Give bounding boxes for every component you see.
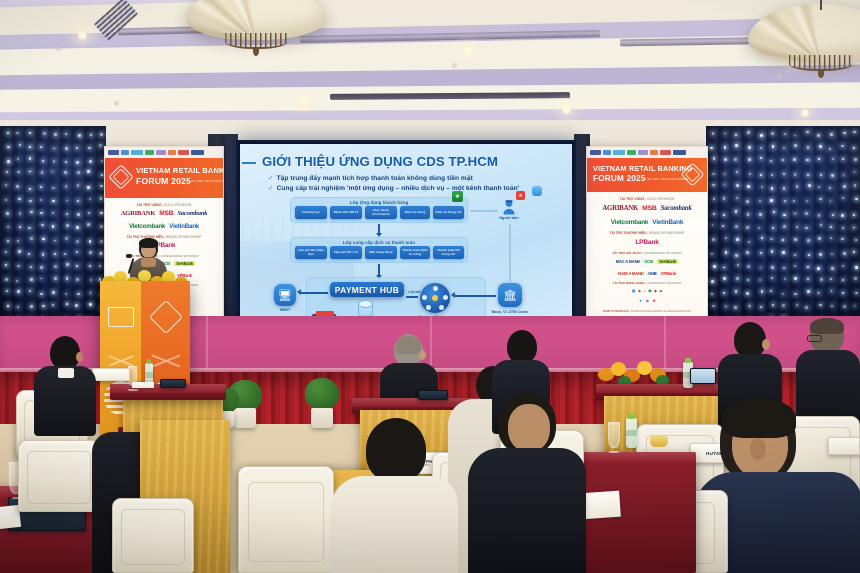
fairy-light [735,144,738,147]
drinking-glass [608,422,620,448]
layer2-chip-1: Viện phí DV Y tế [330,246,362,259]
fairy-light [783,214,786,217]
gold-sponsor-row-2: Vietcombank VietinBank [587,219,707,226]
fairy-light [100,212,103,215]
fairy-light [724,184,726,186]
fairy-lights-left [0,126,106,338]
small-bowl [650,436,668,447]
fairy-light [40,293,43,296]
fairy-light [76,226,79,229]
logo-seabank: SeABank [174,261,195,266]
fairy-light [737,264,739,266]
fairy-light [843,185,846,188]
head [734,322,766,358]
gateway-node-dot [433,286,438,291]
banner-subtitle: 17. 04. 2025 | REX HOTEL SAIGON [643,177,688,181]
banner-header-left: VIETNAM RETAIL BANKING FORUM 2025 17. 04… [105,158,223,198]
node-left-label: HĐĐT [272,308,298,313]
fairy-light [830,226,832,228]
layer2-chip-3: Thanh toán Dịch vụ Công [400,246,430,259]
fairy-light [28,227,30,229]
logo-sacombank: Sacombank [661,205,692,212]
fairy-light [6,171,8,173]
logo-ocb: OCB [644,259,653,264]
fairy-light [7,305,9,307]
fairy-light [28,253,30,255]
logo-msb: MSB [642,205,657,212]
fairy-light [807,266,809,268]
fairy-light [841,238,843,240]
fairy-light [75,304,78,307]
fairy-light [40,212,42,214]
ear [76,352,83,362]
conference-hall-photo: VIETNAM RETAIL BANKING FORUM 2025 17. 04… [0,0,860,573]
fairy-light [794,173,797,176]
conference-sponsor-row: BAC A BANK OCB SeABank [587,259,707,264]
logo-shb: SHB [648,271,657,276]
fairy-light [782,304,784,306]
fairy-light [40,278,42,280]
fairy-light [52,304,54,306]
logo-agribank: AGRIBANK [602,205,638,212]
layer2-chip-4: Thanh toán DV Công ích [433,246,464,259]
fairy-light [772,304,775,307]
bank-icon: 🏛 [498,283,522,307]
fairy-light [712,132,715,135]
gateway-center-dot [432,295,438,301]
fairy-light [723,197,726,200]
tier-en: PARTICIPATING BANKS & ORGANISATIONS [631,309,690,313]
fairy-light [735,134,737,136]
fairy-light [65,293,67,295]
fairy-light [746,292,749,295]
fairy-light [819,253,822,256]
fairy-light [76,251,78,253]
fairy-light [796,185,799,188]
fairy-light [773,211,775,213]
fairy-light [711,293,713,295]
fairy-light [759,279,761,281]
diagram-arrow [454,295,496,297]
fairy-light [736,238,739,241]
fairy-light [734,158,737,161]
layer1-chip-2: Chợ, Shop eCommerce [365,206,397,219]
head [50,336,80,370]
database-icon [358,300,373,317]
fairy-light [807,174,809,176]
fairy-light [794,254,796,256]
fairy-light [66,303,68,305]
ceiling-downlight [114,101,119,106]
fairy-light [17,158,19,160]
fairy-light [817,267,820,270]
fairy-light [748,241,750,243]
lamp-finial [253,47,259,56]
fairy-light [805,212,808,215]
fairy-light [87,223,90,226]
fairy-light [723,267,725,269]
placard-name [110,373,111,377]
audience-chair [18,440,100,512]
fairy-light [90,134,92,136]
bank-label: Bank, Ví, ATM Cards [489,310,531,315]
fairy-light [760,157,762,159]
logo-vietcombank: Vietcombank [611,219,648,226]
fairy-light [805,227,808,230]
fairy-light [30,237,33,240]
slide-bullets: ✓Tập trung đẩy mạnh tích hợp thanh toán … [268,174,519,194]
fairy-light [17,171,19,173]
fairy-light [16,280,18,282]
fairy-light [735,210,738,213]
fairy-light [41,224,43,226]
fairy-light [770,238,772,240]
fairy-light [853,131,855,133]
fairy-light [817,134,820,137]
podium-x-motif [151,347,181,373]
fairy-light [77,293,79,295]
fairy-light [842,197,844,199]
partner-row-1: ▤◈ ◐⬢ ◆▰ [587,289,707,293]
fairy-light [17,306,19,308]
fairy-light [100,197,102,199]
fairy-light [760,147,762,149]
logo-seabank: SeABank [657,259,678,264]
fairy-light [42,238,45,241]
layer1-chip-4: Dịch vụ Công ích [433,206,464,219]
fairy-light [842,279,844,281]
fairy-light [759,200,761,202]
fairy-light [52,200,54,202]
fairy-light [65,185,67,187]
fairy-light [41,171,44,174]
brand-sponsor-row: LPBank [587,239,707,246]
payment-hub-box: PAYMENT HUB [330,282,404,297]
fairy-light [771,277,773,279]
fairy-light [5,278,8,281]
fairy-light [782,239,784,241]
tier-en: BRAND SPONSORSHIP [166,235,201,239]
fairy-light [725,306,727,308]
speaker-hair [139,238,158,248]
speaker-neck [141,258,156,267]
tier-vi: TÀI TRỢ HỘI THẢO [612,251,641,255]
audience-chair [238,466,334,573]
shirt-collar [58,368,74,378]
fairy-light [7,132,9,134]
fairy-light [783,147,785,149]
fairy-light [794,135,796,137]
fairy-light [854,305,856,307]
fairy-light [18,250,21,253]
hair [810,318,844,334]
tablet-device [418,390,448,400]
tier-vi: TÀI TRỢ ĐỒNG HÀNH [613,281,645,285]
fairy-light [29,171,31,173]
fan-pendant-lamp-left [186,0,326,40]
table-top [576,452,696,463]
fairy-light [853,251,855,253]
fairy-light [89,240,91,242]
fairy-light [89,265,91,267]
fairy-light [841,214,844,217]
presentation-screen: GIỚI THIỆU ỨNG DỤNG CDS TP.HCM ✓Tập trun… [236,140,576,335]
fairy-light [758,227,760,229]
tablet-device [160,379,186,388]
checkmark-icon: ✓ [268,185,274,192]
diagram-arrow [406,296,418,298]
layer2-chip-2: Bán hàng Shop [365,246,397,259]
fairy-light [761,237,763,239]
fairy-light [724,158,727,161]
fan-pendant-lamp-right [748,4,860,62]
layer2-chip-0: Học phí Dự Giáo dục [295,246,327,259]
fairy-light [854,277,857,280]
fairy-light [734,306,737,309]
fairy-light [64,253,66,255]
fairy-light [711,253,713,255]
ceiling-downlight [56,46,61,51]
fairy-light [713,213,715,215]
fairy-light [735,254,738,257]
diagram-arrowhead [451,292,455,298]
gateway-node-dot [422,295,427,300]
fairy-light [76,265,78,267]
logo-msb: MSB [159,210,173,217]
fairy-light [760,134,763,137]
fairy-light [747,185,750,188]
fairy-light [794,293,797,296]
fairy-light [855,198,857,200]
fairy-light [6,290,8,292]
layer-1-caption: Lớp Ứng dụng khách hàng [291,200,467,205]
fairy-light [29,290,31,292]
slide-bullet-2: ✓Cung cấp trải nghiệm 'một ứng dụng – nh… [268,184,519,194]
fairy-light [54,240,56,242]
fairy-light [829,187,831,189]
document-paper [132,382,154,388]
fairy-light [65,237,67,239]
fairy-light [820,278,823,281]
hair [396,336,421,354]
fairy-light [854,184,857,187]
app-badge-icon [532,186,542,196]
logo-vpbank: VPBank [661,271,676,276]
fairy-light [843,305,846,308]
fairy-light [101,174,103,176]
ceiling-downlight [560,105,573,114]
gateway-node-dot [439,305,444,310]
fairy-light [89,198,92,201]
fairy-light [794,265,796,267]
fairy-light [66,200,68,202]
fairy-light [89,251,92,254]
fairy-light [66,263,68,265]
fairy-light [99,265,101,267]
logo-vietinbank: VietinBank [652,219,683,226]
fairy-light [794,238,797,241]
layer1-chip-3: Dịch vụ Công [400,206,430,219]
fairy-light [711,280,714,283]
fairy-light [54,277,57,280]
fairy-light [66,224,69,227]
diagram-arrow-horizontal [470,210,498,212]
fairy-light [77,171,80,174]
fairy-light [54,133,57,136]
banner-logo-strip [105,147,223,158]
audience-chair [112,498,194,573]
banner-title-2: FORUM 2025 [593,175,646,184]
tier-vi: TÀI TRỢ THƯƠNG HIỆU [610,231,647,235]
fairy-light [100,240,103,243]
ceiling-downlight [799,109,811,117]
fairy-light [725,251,728,254]
fairy-light [853,214,856,217]
fairy-light [54,253,56,255]
tier-label-conference: TÀI TRỢ HỘI THẢO | CONFERENCE SPONSOR [587,251,707,255]
partner-row-2: ▼◉ ✚ [587,299,707,303]
fairy-light [29,146,31,148]
fairy-light [830,237,832,239]
fairy-light [747,213,750,216]
ceiling-downlight [297,97,310,106]
eyeglasses-icon [807,335,822,342]
fairy-light [66,213,68,215]
fairy-light [65,147,68,150]
fairy-light [831,267,834,270]
fairy-light [831,305,833,307]
fairy-light [736,277,738,279]
fairy-light [712,173,715,176]
fairy-light [7,226,9,228]
fairy-light [771,174,773,176]
banner-title: VIETNAM RETAIL BANKING [136,167,223,175]
fairy-light [66,277,68,279]
fairy-light [783,225,786,228]
fairy-light [843,174,845,176]
slide-content: GIỚI THIỆU ỨNG DỤNG CDS TP.HCM ✓Tập trun… [240,144,572,331]
fairy-light [5,184,7,186]
fairy-light [19,212,21,214]
fairy-light [52,225,55,228]
fairy-light [760,306,762,308]
fairy-light [19,144,21,146]
fairy-light [722,225,724,227]
fairy-light [853,147,855,149]
audience-member [34,336,96,434]
tier-label-gold: TÀI TRỢ VÀNG | GOLD SPONSOR [105,203,223,207]
fairy-light [18,198,21,201]
logo-vietcombank: Vietcombank [129,223,165,230]
fairy-light [761,186,764,189]
fairy-light [808,254,810,256]
sponsor-banner-right: VIETNAM RETAIL BANKING FORUM 2025 17. 04… [586,146,708,342]
fairy-light [736,197,738,199]
fairy-light [855,266,858,269]
fairy-light [760,267,762,269]
fairy-light [807,278,809,280]
forum-seal-icon [108,164,133,189]
fairy-light [64,171,66,173]
audience-member-foreground [330,418,458,573]
banner-logo-strip [587,147,707,158]
diagram-arrowhead [297,289,301,295]
fairy-light [735,225,738,228]
layer-2-caption: Lớp cung cấp dịch vụ thanh toán [291,240,467,245]
fairy-light [65,133,67,135]
fairy-light [16,185,18,187]
fairy-light [782,251,785,254]
tier-label-participants: ĐƠN VỊ THAM GIA | PARTICIPATING BANKS & … [587,309,707,313]
fairy-light [829,148,832,151]
fairy-light [40,266,42,268]
tier-en: CONFERENCE SPONSOR [644,251,682,255]
fairy-light [770,199,773,202]
torso [468,448,586,573]
table-top [596,384,736,393]
banner-header-right: VIETNAM RETAIL BANKING FORUM 2025 17. 04… [587,158,707,192]
fairy-light [30,305,33,308]
fairy-light [783,173,785,175]
fairy-light [796,304,798,306]
fairy-light [746,251,749,254]
citizen-icon [502,199,516,215]
fairy-light [724,146,727,149]
fairy-light [808,184,811,187]
fairy-light [793,158,796,161]
logo-sacombank: Sacombank [177,210,207,217]
fairy-light [783,187,785,189]
fairy-light [90,292,92,294]
fairy-light [749,305,751,307]
head [366,418,426,482]
fairy-light [782,293,784,295]
fairy-light [40,199,42,201]
fairy-light [40,186,42,188]
fairy-light [784,133,786,135]
fairy-light [818,292,820,294]
logo-lpbank: LPBank [635,239,658,246]
ear [762,339,770,350]
fairy-light [77,184,80,187]
fairy-light [713,265,716,268]
citizen-label: Người dân [494,216,524,221]
fairy-light [712,305,715,308]
fairy-light [29,157,32,160]
fairy-light [76,161,79,164]
fairy-light [832,214,834,216]
fairy-light [771,187,773,189]
fairy-light [712,184,714,186]
tier-label-brand: TÀI TRỢ THƯƠNG HIỆU | BRAND SPONSORSHIP [587,231,707,235]
fairy-light [782,159,784,161]
fairy-light [42,253,45,256]
logo-namabank: NAM A BANK [618,271,644,276]
companion-sponsor-row: NAM A BANK SHB VPBank [587,271,707,276]
fairy-light [52,212,54,214]
audience-member-foreground [468,392,586,573]
fairy-light [819,145,822,148]
tier-en: COMPANION SPONSOR [647,281,681,285]
fairy-light [29,188,31,190]
fairy-light [818,186,820,188]
fairy-light [759,213,762,216]
fairy-light [29,200,31,202]
fairy-light [832,158,834,160]
ceiling-downlight [76,31,89,40]
fairy-light [736,171,738,173]
fairy-light [101,160,103,162]
